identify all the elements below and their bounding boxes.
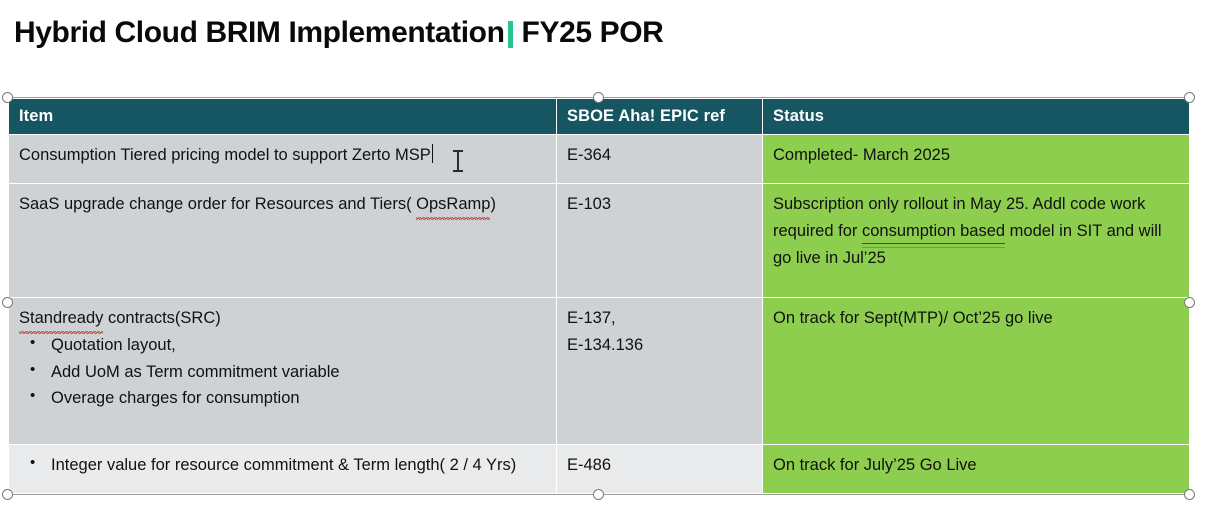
por-table-container[interactable]: Item SBOE Aha! EPIC ref Status Consumpti… [8, 98, 1189, 494]
cell-epic-ref[interactable]: E-364 [557, 135, 763, 184]
item-bullet-list: Integer value for resource commitment & … [19, 452, 546, 479]
list-item: Quotation layout, [19, 332, 546, 359]
column-header-item[interactable]: Item [9, 99, 557, 135]
selection-handle-top-middle[interactable] [593, 92, 604, 103]
misspelled-word: OpsRamp [416, 191, 490, 218]
column-header-epic-ref[interactable]: SBOE Aha! EPIC ref [557, 99, 763, 135]
list-item: Integer value for resource commitment & … [19, 452, 546, 479]
selection-handle-middle-left[interactable] [2, 297, 13, 308]
item-text: Consumption Tiered pricing model to supp… [19, 146, 431, 164]
grammar-flagged-phrase: consumption based [862, 218, 1005, 245]
cell-item[interactable]: Integer value for resource commitment & … [9, 444, 557, 493]
status-text: On track for Sept(MTP)/ Oct’25 go live [773, 305, 1179, 332]
cell-epic-ref[interactable]: E-137, E-134.136 [557, 298, 763, 444]
cell-epic-ref[interactable]: E-103 [557, 184, 763, 298]
cell-item[interactable]: Standready contracts(SRC) Quotation layo… [9, 298, 557, 444]
title-separator-bar [508, 21, 513, 48]
list-item: Add UoM as Term commitment variable [19, 359, 546, 386]
status-text: Completed- March 2025 [773, 142, 1179, 169]
table-row[interactable]: SaaS upgrade change order for Resources … [9, 184, 1190, 298]
item-text-part-a: SaaS upgrade change order for Resources … [19, 195, 416, 213]
cell-epic-ref[interactable]: E-486 [557, 444, 763, 493]
cell-item[interactable]: SaaS upgrade change order for Resources … [9, 184, 557, 298]
item-heading: Standready contracts(SRC) [19, 305, 546, 332]
page-title: Hybrid Cloud BRIM Implementation FY25 PO… [14, 16, 663, 50]
item-text-part-b: ) [490, 195, 496, 213]
selection-handle-bottom-middle[interactable] [593, 489, 604, 500]
selection-handle-middle-right[interactable] [1184, 297, 1195, 308]
list-item: Overage charges for consumption [19, 385, 546, 412]
item-heading-rest: contracts(SRC) [103, 309, 220, 327]
epic-ref-line: E-134.136 [567, 332, 752, 359]
table-header-row: Item SBOE Aha! EPIC ref Status [9, 99, 1190, 135]
table-row[interactable]: Integer value for resource commitment & … [9, 444, 1190, 493]
page-title-main: Hybrid Cloud BRIM Implementation [14, 16, 505, 50]
selection-handle-bottom-left[interactable] [2, 489, 13, 500]
cell-status[interactable]: On track for July’25 Go Live [763, 444, 1190, 493]
text-caret [432, 144, 434, 163]
por-table[interactable]: Item SBOE Aha! EPIC ref Status Consumpti… [8, 98, 1190, 494]
cell-item[interactable]: Consumption Tiered pricing model to supp… [9, 135, 557, 184]
epic-ref-line: E-486 [567, 452, 752, 479]
epic-ref-line: E-364 [567, 142, 752, 169]
selection-handle-top-right[interactable] [1184, 92, 1195, 103]
table-row[interactable]: Consumption Tiered pricing model to supp… [9, 135, 1190, 184]
page-title-sub: FY25 POR [522, 16, 664, 50]
item-bullet-list: Quotation layout, Add UoM as Term commit… [19, 332, 546, 412]
selection-handle-top-left[interactable] [2, 92, 13, 103]
epic-ref-line: E-137, [567, 305, 752, 332]
table-row[interactable]: Standready contracts(SRC) Quotation layo… [9, 298, 1190, 444]
cell-status[interactable]: Subscription only rollout in May 25. Add… [763, 184, 1190, 298]
cell-status[interactable]: Completed- March 2025 [763, 135, 1190, 184]
misspelled-word: Standready [19, 305, 103, 332]
status-text: On track for July’25 Go Live [773, 452, 1179, 479]
selection-handle-bottom-right[interactable] [1184, 489, 1195, 500]
epic-ref-line: E-103 [567, 191, 752, 218]
column-header-status[interactable]: Status [763, 99, 1190, 135]
cell-status[interactable]: On track for Sept(MTP)/ Oct’25 go live [763, 298, 1190, 444]
